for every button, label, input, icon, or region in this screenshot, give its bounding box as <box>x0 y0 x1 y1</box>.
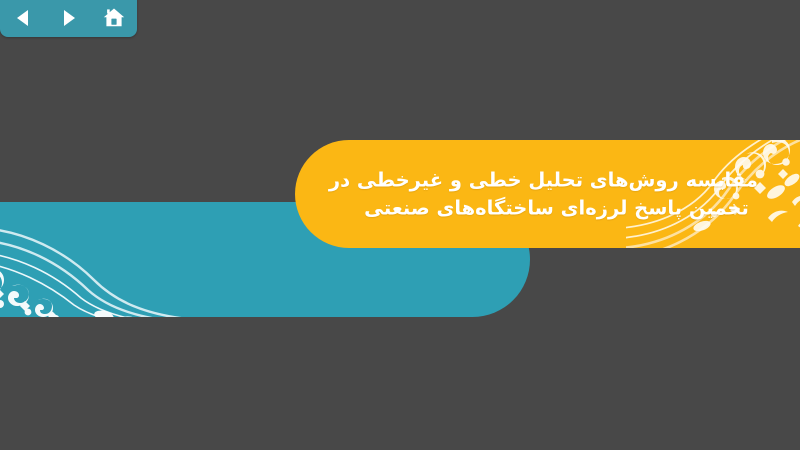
title-banner: مقایسه روش‌های تحلیل خطی و غیرخطی در تخم… <box>295 140 800 248</box>
title-line-1: مقایسه روش‌های تحلیل خطی و غیرخطی در <box>355 166 758 194</box>
nav-toolbar[interactable] <box>0 0 137 37</box>
banner-stack: مقایسه روش‌های تحلیل خطی و غیرخطی در تخم… <box>0 0 800 450</box>
home-button[interactable] <box>97 4 131 32</box>
slide-canvas: مقایسه روش‌های تحلیل خطی و غیرخطی در تخم… <box>0 0 800 450</box>
home-icon <box>102 6 126 30</box>
title-line-2: تخمین پاسخ لرزه‌ای ساختگاه‌های صنعتی <box>355 194 758 222</box>
next-slide-button[interactable] <box>51 4 85 32</box>
title-text-block: مقایسه روش‌های تحلیل خطی و غیرخطی در تخم… <box>355 166 758 221</box>
triangle-left-icon <box>12 7 34 29</box>
triangle-right-icon <box>57 7 79 29</box>
teal-arabesque-ornament-icon <box>0 202 199 317</box>
previous-slide-button[interactable] <box>6 4 40 32</box>
